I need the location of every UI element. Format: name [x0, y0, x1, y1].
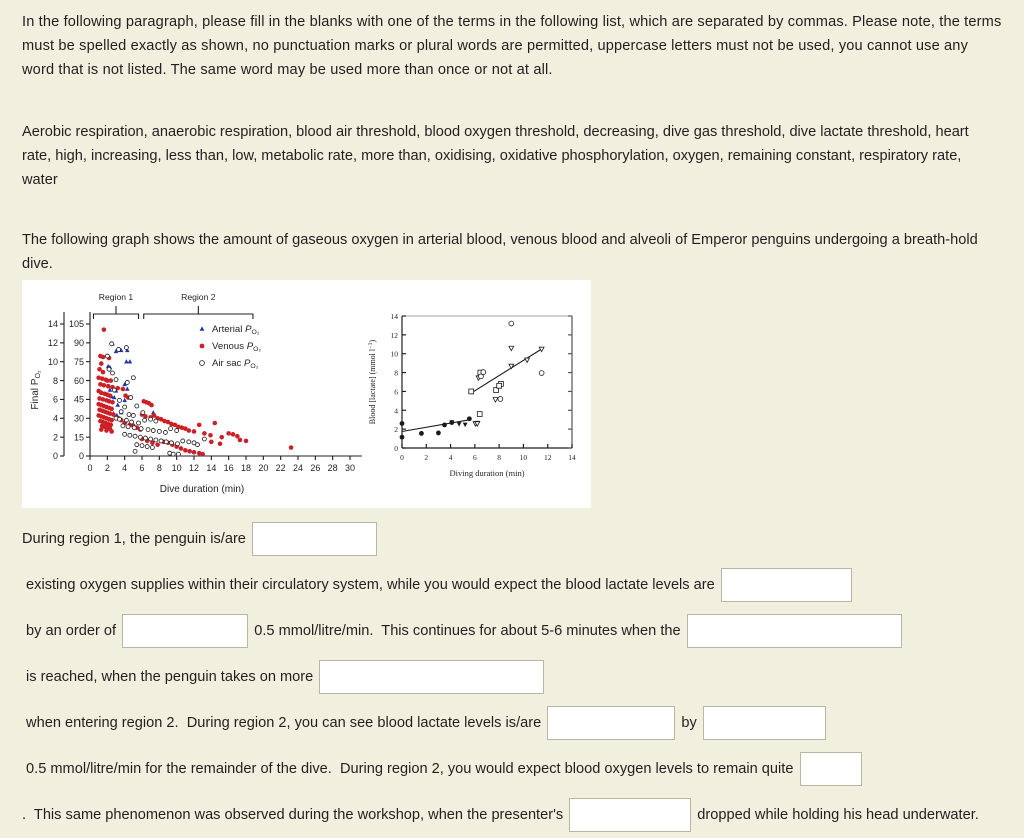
- svg-text:12: 12: [189, 463, 199, 473]
- paragraph-text: 0.5 mmol/litre/min. This continues for a…: [250, 623, 685, 639]
- svg-text:Arterial PO₂: Arterial PO₂: [212, 324, 260, 336]
- svg-text:Region 1: Region 1: [99, 292, 134, 302]
- paragraph-text: lactate levels are: [605, 577, 719, 593]
- paragraph-text: by: [677, 715, 701, 731]
- chart-right-svg: 0246810121402468101214Blood [lactate] (m…: [362, 298, 591, 490]
- svg-text:0: 0: [400, 453, 404, 462]
- svg-text:2: 2: [424, 453, 428, 462]
- svg-text:15: 15: [74, 432, 84, 442]
- svg-text:0: 0: [87, 463, 92, 473]
- svg-text:Dive duration (min): Dive duration (min): [160, 484, 244, 495]
- svg-text:30: 30: [345, 463, 355, 473]
- svg-text:10: 10: [172, 463, 182, 473]
- svg-text:0: 0: [79, 451, 84, 461]
- svg-text:22: 22: [276, 463, 286, 473]
- svg-text:12: 12: [544, 453, 552, 462]
- chart-left-final-po2: Region 1Region 2024681012140153045607590…: [22, 280, 367, 508]
- svg-text:Diving duration (min): Diving duration (min): [449, 468, 524, 478]
- svg-text:16: 16: [224, 463, 234, 473]
- svg-text:6: 6: [473, 453, 477, 462]
- fill-in-paragraph: During region 1, the penguin is/are exis…: [22, 516, 1007, 838]
- blank-9[interactable]: [569, 798, 691, 832]
- svg-text:10: 10: [48, 357, 58, 367]
- paragraph-text: 0.5 mmol/litre/min for the remainder of …: [22, 761, 387, 777]
- paragraph-text: when entering region 2. During: [22, 715, 234, 731]
- graph-intro-paragraph: The following graph shows the amount of …: [22, 228, 984, 276]
- svg-text:8: 8: [157, 463, 162, 473]
- figure-panel: Region 1Region 2024681012140153045607590…: [22, 280, 591, 508]
- blank-2[interactable]: [721, 568, 852, 602]
- paragraph-text: . This same phenomenon was observed duri…: [22, 807, 491, 823]
- blank-3[interactable]: [122, 614, 248, 648]
- chart-left-svg: Region 1Region 2024681012140153045607590…: [22, 280, 367, 508]
- svg-text:Venous PO₂: Venous PO₂: [212, 341, 261, 353]
- instructions-paragraph: In the following paragraph, please fill …: [22, 10, 1004, 82]
- svg-text:4: 4: [449, 453, 453, 462]
- svg-text:10: 10: [520, 453, 528, 462]
- svg-text:12: 12: [391, 331, 399, 340]
- svg-text:Air sac PO₂: Air sac PO₂: [212, 358, 259, 370]
- svg-text:Region 2: Region 2: [181, 292, 216, 302]
- paragraph-text: During region 1, the penguin is/are: [22, 531, 250, 547]
- svg-text:2: 2: [53, 432, 58, 442]
- svg-text:8: 8: [394, 369, 398, 378]
- svg-text:4: 4: [53, 413, 58, 423]
- svg-text:105: 105: [69, 319, 84, 329]
- svg-text:24: 24: [293, 463, 303, 473]
- paragraph-text: is reached, when the penguin takes on mo…: [22, 669, 317, 685]
- svg-text:14: 14: [48, 319, 58, 329]
- blank-7[interactable]: [703, 706, 826, 740]
- blank-6[interactable]: [547, 706, 675, 740]
- chart-right-blood-lactate: 0246810121402468101214Blood [lactate] (m…: [362, 298, 591, 490]
- svg-text:4: 4: [394, 406, 398, 415]
- svg-text:30: 30: [74, 413, 84, 423]
- svg-text:4: 4: [122, 463, 127, 473]
- paragraph-text: existing oxygen supplies within their ci…: [22, 577, 605, 593]
- svg-text:14: 14: [391, 312, 399, 321]
- paragraph-text: region 2, you can see blood lactate leve…: [234, 715, 546, 731]
- paragraph-text: dropped while holding his head underwate…: [693, 807, 979, 823]
- svg-text:8: 8: [53, 376, 58, 386]
- term-list: Aerobic respiration, anaerobic respirati…: [22, 120, 994, 192]
- svg-text:6: 6: [139, 463, 144, 473]
- svg-text:8: 8: [497, 453, 501, 462]
- svg-text:Blood [lactate] (mmol l−1): Blood [lactate] (mmol l−1): [368, 339, 377, 424]
- svg-text:14: 14: [206, 463, 216, 473]
- svg-text:Final PO₂: Final PO₂: [30, 370, 42, 410]
- blank-1[interactable]: [252, 522, 377, 556]
- svg-text:14: 14: [568, 453, 576, 462]
- blank-4[interactable]: [687, 614, 902, 648]
- blank-5[interactable]: [319, 660, 544, 694]
- svg-text:2: 2: [394, 425, 398, 434]
- svg-text:10: 10: [391, 350, 399, 359]
- svg-text:18: 18: [241, 463, 251, 473]
- worksheet-page: In the following paragraph, please fill …: [0, 0, 1024, 759]
- paragraph-text: presenter's: [491, 807, 567, 823]
- svg-text:28: 28: [328, 463, 338, 473]
- svg-text:0: 0: [394, 444, 398, 453]
- svg-text:6: 6: [394, 387, 398, 396]
- svg-text:20: 20: [258, 463, 268, 473]
- svg-text:2: 2: [105, 463, 110, 473]
- svg-text:26: 26: [310, 463, 320, 473]
- svg-text:12: 12: [48, 338, 58, 348]
- svg-text:75: 75: [74, 357, 84, 367]
- svg-text:45: 45: [74, 395, 84, 405]
- svg-text:0: 0: [53, 451, 58, 461]
- blank-8[interactable]: [800, 752, 862, 786]
- svg-text:6: 6: [53, 395, 58, 405]
- paragraph-text: region 2, you would expect blood oxygen …: [387, 761, 798, 777]
- svg-text:90: 90: [74, 338, 84, 348]
- svg-text:60: 60: [74, 376, 84, 386]
- paragraph-text: by an order of: [22, 623, 120, 639]
